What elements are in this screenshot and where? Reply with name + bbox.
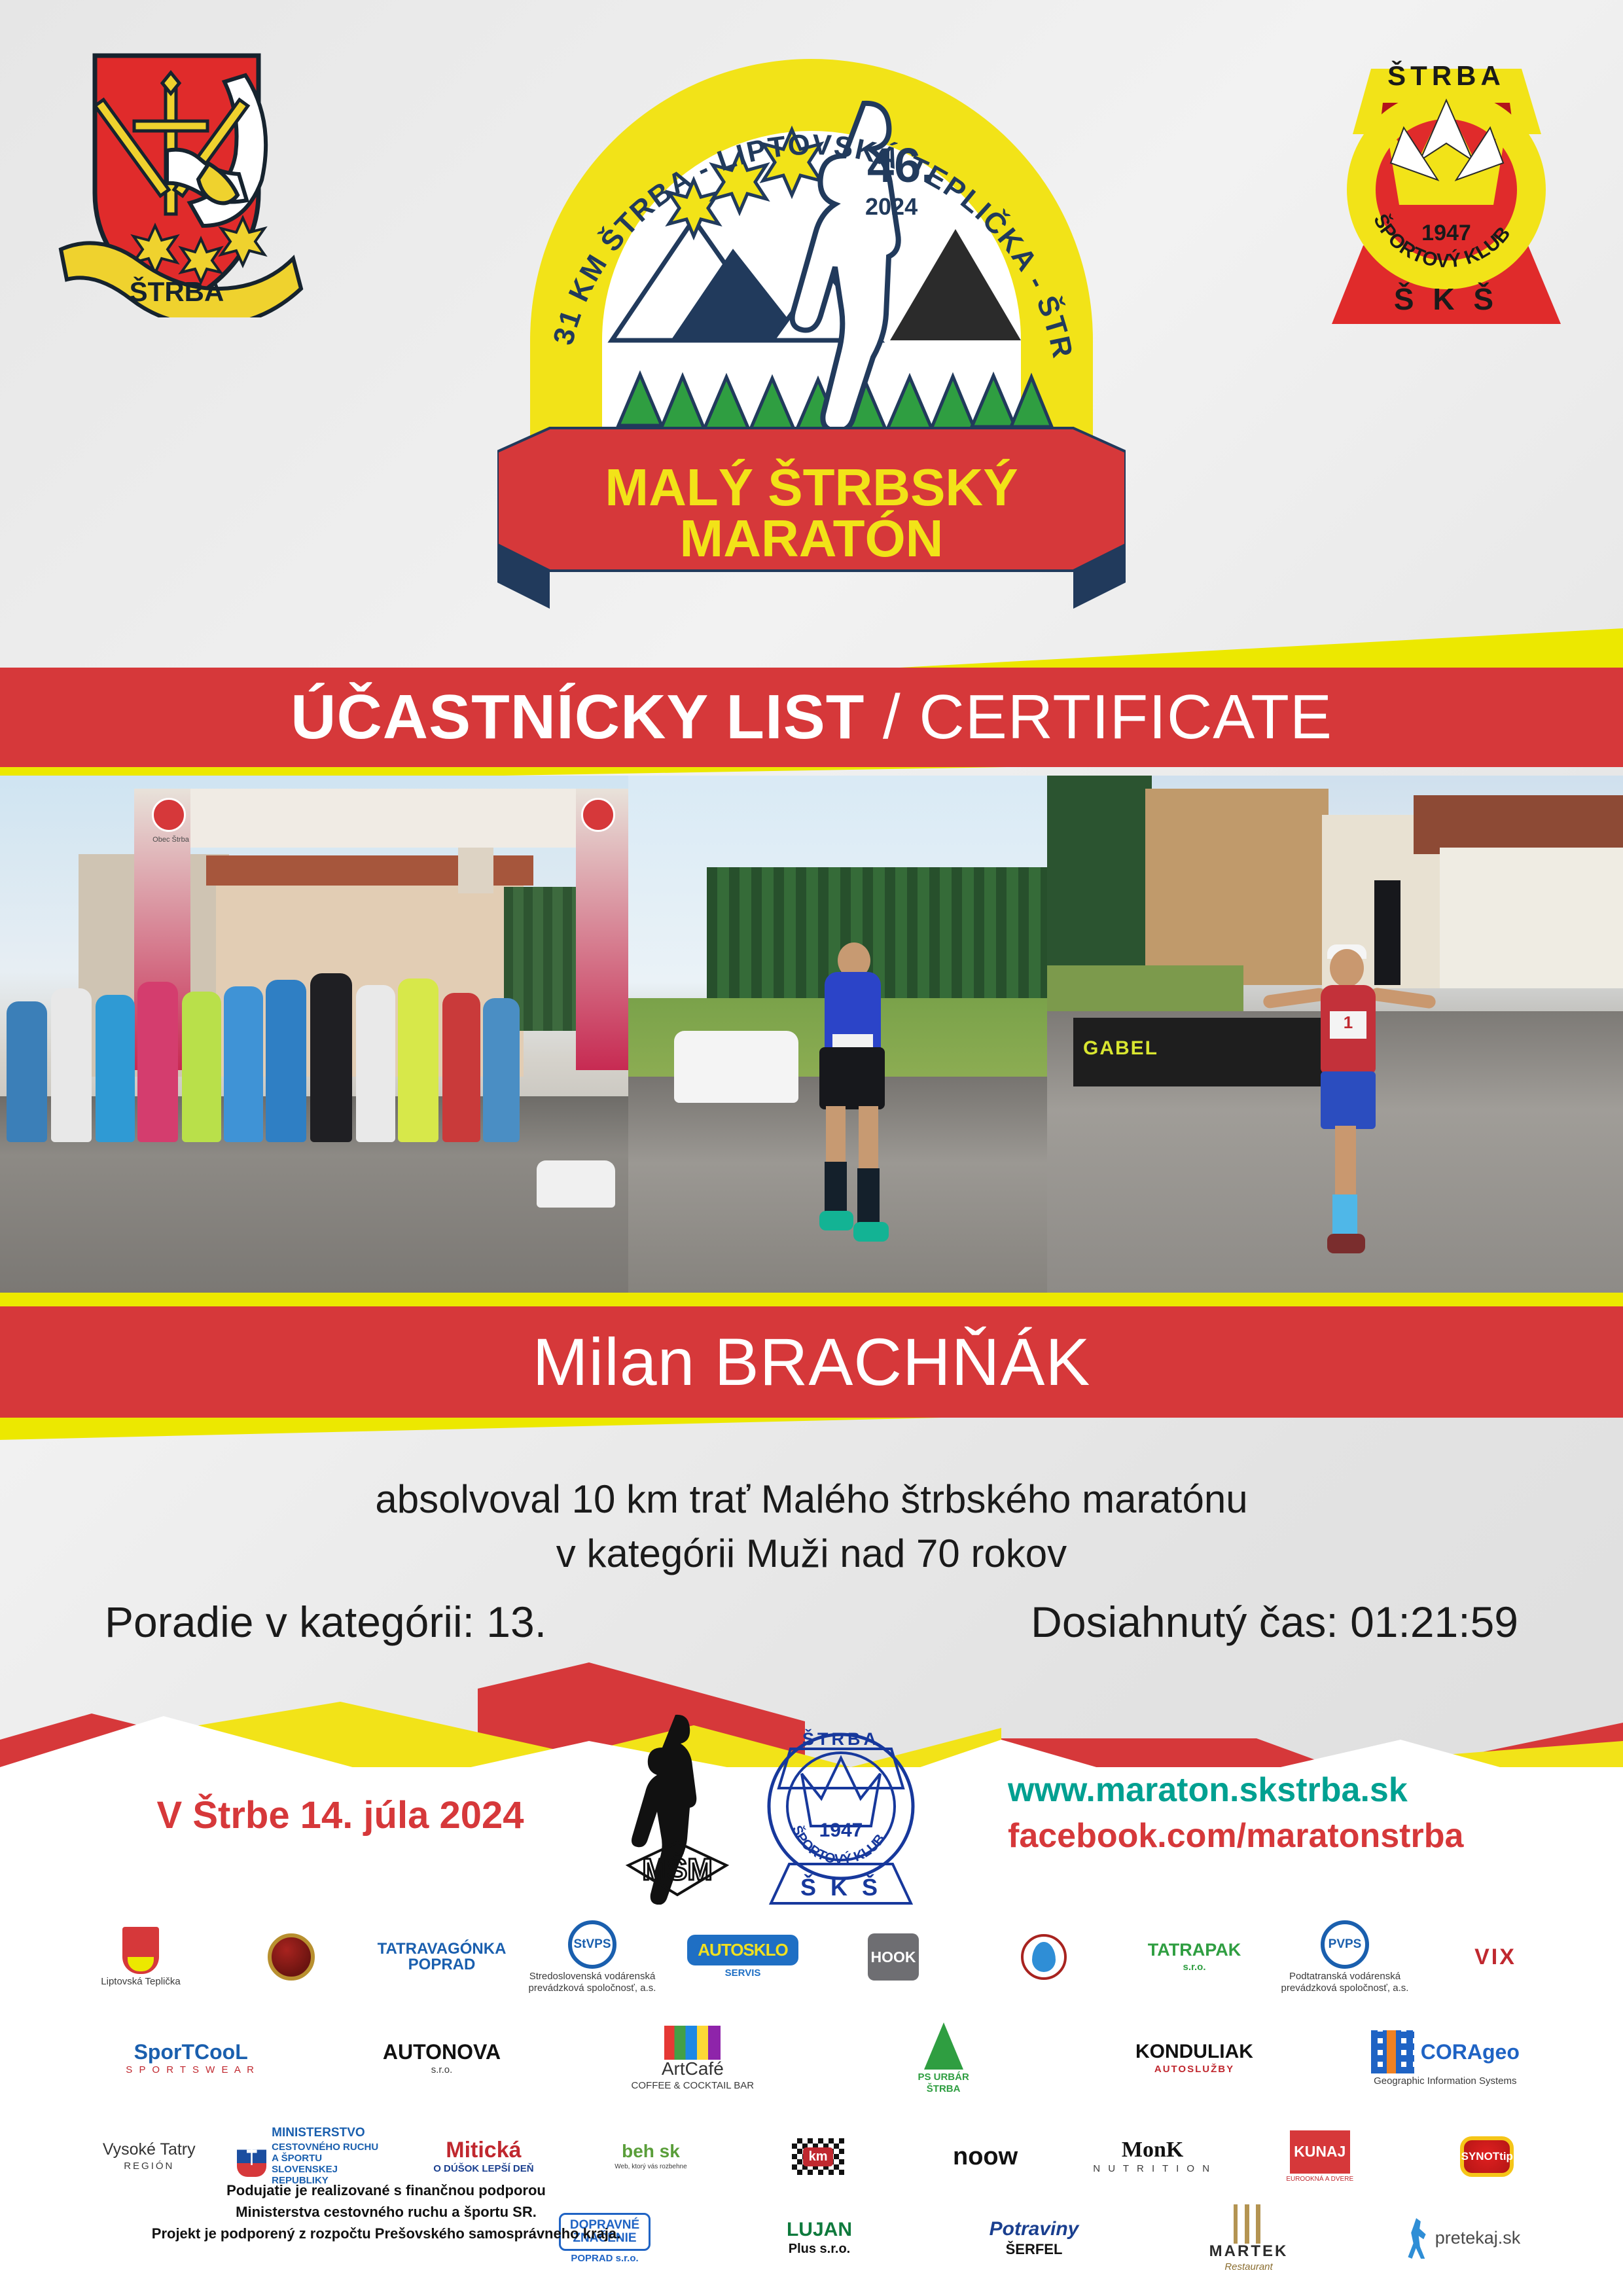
strba-coat-of-arms: ŠTRBA — [49, 29, 304, 317]
sponsor-row-2: SporTCooL S P O R T S W E A R AUTONOVA s… — [65, 2009, 1571, 2108]
photo1-arch-top — [134, 789, 628, 848]
sponsor-pvps: PVPS Podtatranská vodárenská prevádzková… — [1270, 1905, 1420, 2009]
sponsor-hook: HOOK — [818, 1905, 969, 2009]
photo3-barrier-text: GABEL — [1083, 1037, 1158, 1060]
funding-note-line-2: Ministerstva cestovného ruchu a športu S… — [92, 2201, 681, 2223]
photo2-runner-shorts — [819, 1047, 885, 1109]
druzstvo-circle-icon — [1021, 1934, 1067, 1980]
crest-banner-text: ŠTRBA — [130, 276, 224, 307]
title-bold: ÚČASTNÍCKY LIST — [291, 682, 865, 752]
detail-line-2: v kategórii Muži nad 70 rokov — [0, 1527, 1623, 1581]
photo1-runner-crowd — [0, 933, 628, 1142]
spruce-tree-icon — [924, 2022, 963, 2070]
sponsor-lujan-plus: LUJAN Plus s.r.o. — [712, 2202, 927, 2274]
pvps-oval-icon: PVPS — [1321, 1920, 1369, 1969]
title-separator: / — [865, 682, 919, 752]
photo2-runner-sock-left — [825, 1162, 847, 1217]
sponsor-corageo: CORAgeo Geographic Information Systems — [1320, 2009, 1571, 2108]
water-drop-icon — [1032, 1942, 1056, 1972]
sponsor-sublabel: N U T R I T I O N — [1093, 2163, 1212, 2174]
sponsor-label: TATRAVAGÓNKA POPRAD — [378, 1941, 507, 1973]
sponsor-label: AUTONOVA — [383, 2041, 501, 2063]
event-date: V Štrbe 14. júla 2024 — [111, 1793, 569, 1837]
sponsor-label: AUTOSKLO — [687, 1935, 798, 1965]
photo3-roof — [1414, 795, 1623, 854]
funding-note: Podujatie je realizované s finančnou pod… — [92, 2179, 681, 2244]
sponsor-label: ArtCafé — [662, 2060, 724, 2079]
sponsor-tatrapak: TATRAPAK s.r.o. — [1119, 1905, 1270, 2009]
athlete-name-band: Milan BRACHŇÁK — [0, 1306, 1623, 1418]
sponsor-label: VIX — [1474, 1945, 1516, 1970]
sponsor-vix: VIX — [1420, 1905, 1571, 2009]
footer-links: www.maraton.skstrba.sk facebook.com/mara… — [1008, 1767, 1571, 1859]
logo-ribbon-line1: MALÝ ŠTRBSKÝ — [605, 458, 1018, 516]
liptovska-teplicka-shield-icon — [122, 1927, 159, 1974]
sponsor-label: PS URBÁR ŠTRBA — [918, 2072, 969, 2094]
artcafe-bars-icon — [664, 2026, 721, 2060]
result-details: absolvoval 10 km trať Malého štrbského m… — [0, 1473, 1623, 1581]
photo-woman-runner — [628, 776, 1047, 1293]
finish-time: Dosiahnutý čas: 01:21:59 — [1031, 1597, 1518, 1647]
sponsor-sublabel: ŠERFEL — [1006, 2241, 1063, 2257]
sks-year: 1947 — [1421, 221, 1471, 245]
sponsor-label: Liptovská Teplička — [101, 1976, 180, 1987]
title-light: CERTIFICATE — [919, 682, 1332, 752]
funding-note-line-1: Podujatie je realizované s finančnou pod… — [92, 2179, 681, 2201]
sponsor-sublabel: Plus s.r.o. — [789, 2242, 850, 2257]
sks-stamp-year: 1947 — [819, 1820, 863, 1841]
sponsor-sublabel: AUTOSLUŽBY — [1154, 2064, 1234, 2075]
website-link[interactable]: www.maraton.skstrba.sk — [1008, 1767, 1571, 1813]
sponsor-label: pretekaj.sk — [1435, 2229, 1521, 2248]
sponsor-label: KONDULIAK — [1135, 2042, 1253, 2062]
photo-strip: Obec Štrba — [0, 776, 1623, 1293]
sponsor-sublabel: POPRAD s.r.o. — [571, 2253, 638, 2264]
sponsor-tatravagonka: TATRAVAGÓNKA POPRAD — [366, 1905, 517, 2009]
sponsor-sublabel: COFFEE & COCKTAIL BAR — [632, 2080, 755, 2091]
yellow-accent-below-name — [0, 1418, 1623, 1440]
sponsor-sublabel: s.r.o. — [431, 2064, 453, 2075]
photo1-arch-badge-left — [152, 798, 186, 832]
sponsor-noow: noow — [902, 2108, 1069, 2206]
category-rank: Poradie v kategórii: 13. — [105, 1597, 546, 1647]
sponsor-liptovska-teplicka: Liptovská Teplička — [65, 1905, 216, 2009]
sponsor-sublabel: O DÚŠOK LEPŠÍ DEŇ — [433, 2163, 533, 2174]
sponsor-label: TATRAPAK — [1148, 1941, 1241, 1960]
sponsor-label: Mitická — [446, 2139, 521, 2162]
msm-logo-text: MŠM — [642, 1852, 712, 1886]
sponsor-ps-urbar-strba: PS URBÁR ŠTRBA — [818, 2009, 1069, 2108]
sponsor-sublabel: EUROOKNÁ A DVERE — [1286, 2176, 1353, 2183]
maly-strbsky-maraton-logo: 46. 2024 31 KM ŠTRBA - LIPTOVSKÁ TEPLIČK… — [497, 33, 1126, 622]
msm-runner-logo: MŠM — [615, 1702, 740, 1905]
photo3-winner-shoe — [1327, 1234, 1365, 1253]
sponsor-sublabel: SERVIS — [725, 1967, 761, 1979]
certificate-title-band: ÚČASTNÍCKY LIST / CERTIFICATE — [0, 668, 1623, 767]
sks-bottom-text: Š K Š — [1394, 282, 1499, 316]
sponsor-label: km — [803, 2147, 834, 2166]
sponsor-sublabel: Web, ktorý vás rozbehne — [615, 2163, 687, 2171]
photo3-winner-bib-number: 1 — [1330, 1013, 1366, 1033]
sponsor-monk-nutrition: MonK N U T R I T I O N — [1069, 2108, 1236, 2206]
corageo-grid-icon — [1371, 2030, 1414, 2073]
sponsor-label: MonK — [1122, 2139, 1183, 2162]
slovak-coat-of-arms-icon — [237, 2136, 267, 2177]
checkered-flag-icon: km — [792, 2138, 844, 2175]
runner-figure-icon — [1406, 2218, 1429, 2259]
photo3-house-1 — [1145, 789, 1329, 985]
logo-ribbon-line2: MARATÓN — [680, 509, 944, 567]
athlete-name: Milan BRACHŇÁK — [533, 1324, 1091, 1401]
sponsor-stvps: StVPS Stredoslovenská vodárenská prevádz… — [517, 1905, 668, 2009]
sponsor-label: SYNOTtip — [1460, 2136, 1514, 2177]
sponsor-martek-restaurant: MARTEK Restaurant — [1141, 2202, 1356, 2274]
photo3-winner-head — [1330, 949, 1364, 987]
yellow-accent-below-photos — [0, 1293, 1623, 1307]
sks-stamp-bottom: Š K Š — [800, 1873, 882, 1901]
cutlery-icon — [1229, 2204, 1268, 2244]
photo1-arch-badge-right — [581, 798, 615, 832]
sponsor-artcafe: ArtCafé COFFEE & COCKTAIL BAR — [567, 2009, 818, 2108]
page-title: ÚČASTNÍCKY LIST / CERTIFICATE — [291, 681, 1332, 753]
photo3-house-3 — [1440, 848, 1623, 988]
sponsor-polnohospodarske-druzstvo — [969, 1905, 1119, 2009]
sponsor-sportcool: SporTCooL S P O R T S W E A R — [65, 2009, 316, 2108]
certificate-page: ŠTRBA ŠTRBA 1947 ŠPORTOVÝ KLUB — [0, 0, 1623, 2296]
sponsor-label: beh sk — [622, 2142, 680, 2161]
sponsor-label: noow — [953, 2144, 1018, 2170]
sponsor-kunaj: KUNAJ EUROOKNÁ A DVERE — [1236, 2108, 1404, 2206]
photo2-runner-shoe-left — [819, 1211, 853, 1230]
sponsor-km: km — [734, 2108, 902, 2206]
sponsor-program-trencin — [216, 1905, 366, 2009]
sponsor-label: Stredoslovenská vodárenská prevádzková s… — [529, 1971, 656, 1994]
sponsor-label: Vysoké Tatry — [103, 2142, 196, 2159]
sponsor-sublabel: REGIÓN — [124, 2161, 174, 2172]
sponsor-synot-tip: SYNOTtip — [1404, 2108, 1571, 2206]
photo3-winner-shorts — [1321, 1071, 1376, 1129]
photo3-flag — [1374, 880, 1400, 985]
sponsor-label: MARTEK — [1209, 2244, 1289, 2259]
photo1-car — [537, 1160, 615, 1208]
photo-winner-finish: GABEL 1 — [1047, 776, 1623, 1293]
sponsor-autosklo: AUTOSKLO SERVIS — [668, 1905, 818, 2009]
sponsor-label: LUJAN — [787, 2220, 852, 2240]
sponsor-label: HOOK — [868, 1933, 919, 1981]
sponsor-label: KUNAJ — [1290, 2130, 1350, 2174]
sponsor-potraviny-serfel: Potraviny ŠERFEL — [927, 2202, 1141, 2274]
sks-top-text: ŠTRBA — [1387, 60, 1505, 91]
sponsor-row-1: Liptovská Teplička TATRAVAGÓNKA POPRAD S… — [65, 1905, 1571, 2009]
photo1-arch-label: Obec Štrba — [135, 836, 207, 844]
photo2-runner-shoe-right — [853, 1222, 889, 1242]
photo2-lead-car — [674, 1031, 798, 1103]
sks-stamp-top: ŠTRBA — [802, 1729, 880, 1749]
program-trencin-seal-icon — [268, 1933, 315, 1981]
facebook-link[interactable]: facebook.com/maratonstrba — [1008, 1813, 1571, 1859]
sks-club-logo: ŠTRBA 1947 ŠPORTOVÝ KLUB Š K Š — [1312, 29, 1580, 324]
funding-note-line-3: Projekt je podporený z rozpočtu Prešovsk… — [92, 2223, 681, 2244]
sponsor-sublabel: S P O R T S W E A R — [126, 2064, 256, 2075]
sponsor-konduliak: KONDULIAK AUTOSLUŽBY — [1069, 2009, 1319, 2108]
logo-year: 2024 — [865, 193, 918, 220]
photo-mass-start: Obec Štrba — [0, 776, 628, 1293]
result-summary-row: Poradie v kategórii: 13. Dosiahnutý čas:… — [0, 1597, 1623, 1647]
sponsor-sublabel: s.r.o. — [1183, 1962, 1205, 1973]
sponsor-pretekaj-sk: pretekaj.sk — [1356, 2202, 1571, 2274]
sponsor-label: MINISTERSTVO — [272, 2126, 396, 2139]
sks-footer-stamp: ŠTRBA 1947 ŠPORTOVÝ KLUB Š K Š — [759, 1702, 923, 1905]
sponsor-label: Podtatranská vodárenská prevádzková spol… — [1281, 1971, 1409, 1994]
photo3-forest — [1047, 776, 1152, 992]
detail-line-1: absolvoval 10 km trať Malého štrbského m… — [0, 1473, 1623, 1527]
sponsor-sublabel: Restaurant — [1224, 2261, 1272, 2272]
sponsor-label: CORAgeo — [1421, 2041, 1520, 2063]
photo2-runner-sock-right — [857, 1168, 880, 1227]
sponsor-sublabel: Geographic Information Systems — [1374, 2075, 1516, 2087]
sponsor-autonova: AUTONOVA s.r.o. — [316, 2009, 567, 2108]
sponsor-label: SporTCooL — [134, 2041, 248, 2063]
stvps-oval-icon: StVPS — [568, 1920, 616, 1969]
sponsor-label: Potraviny — [990, 2219, 1079, 2240]
header-zone: ŠTRBA ŠTRBA 1947 ŠPORTOVÝ KLUB — [0, 0, 1623, 641]
